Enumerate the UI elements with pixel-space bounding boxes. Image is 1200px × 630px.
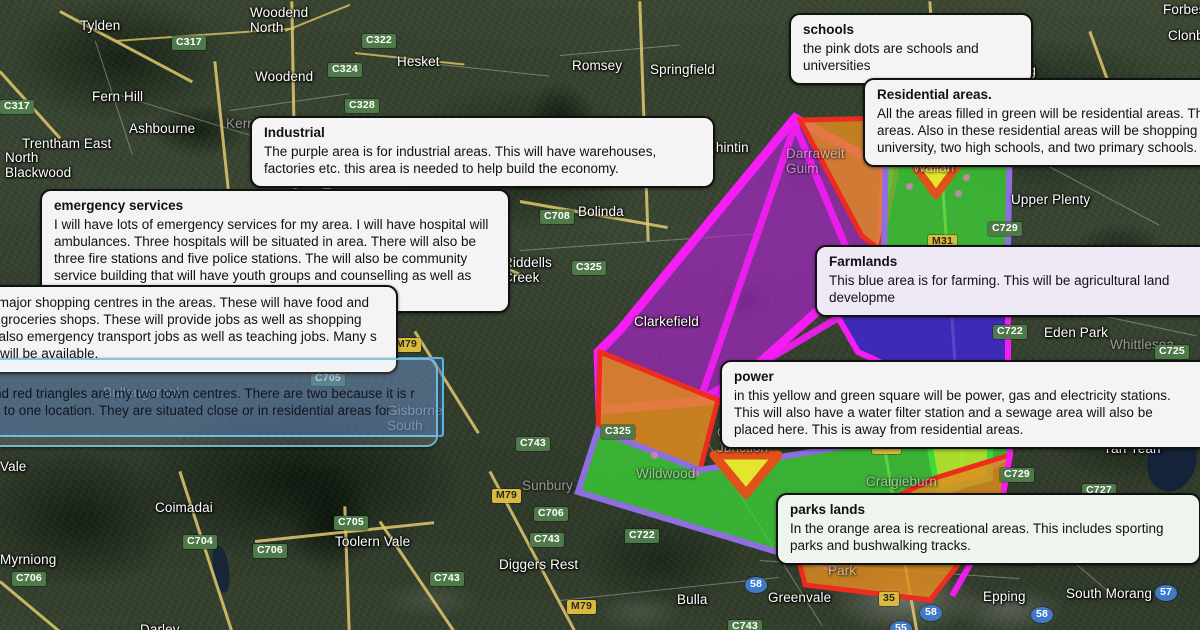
- road-shield: C325: [572, 261, 606, 275]
- road-shield: C729: [988, 222, 1022, 236]
- place-label: Wildwood: [636, 466, 695, 481]
- place-label: Romsey: [572, 58, 622, 73]
- callout-farmlands[interactable]: Farmlands This blue area is for farming.…: [815, 245, 1200, 317]
- map-canvas[interactable]: TyldenWoodend NorthWoodendHesketRomseySp…: [0, 0, 1200, 630]
- place-label: Epping: [983, 589, 1026, 604]
- callout-body: e three major shopping centres in the ar…: [0, 294, 384, 363]
- callout-power[interactable]: power in this yellow and green square wi…: [720, 360, 1200, 449]
- road-shield: 58: [920, 605, 942, 621]
- callout-body: In the orange area is recreational areas…: [790, 520, 1187, 554]
- callout-title: Industrial: [264, 125, 701, 142]
- callout-schools[interactable]: schools the pink dots are schools and un…: [789, 13, 1033, 85]
- road-shield: C743: [530, 533, 564, 547]
- place-label: Ashbourne: [129, 121, 195, 136]
- callout-body: ellow and red triangles are my two town …: [0, 385, 424, 436]
- road-shield: C722: [993, 325, 1027, 339]
- road-shield: C743: [516, 437, 550, 451]
- place-label: Craigieburn: [866, 474, 937, 489]
- callout-body: The purple area is for industrial areas.…: [264, 143, 701, 177]
- place-label: Coimadai: [155, 500, 213, 515]
- place-label: Springfield: [650, 62, 715, 77]
- callout-title: Residential areas.: [877, 87, 1200, 104]
- road-shield: C708: [540, 210, 574, 224]
- place-label: Fern Hill: [92, 89, 143, 104]
- place-label: Clonbinane: [1168, 28, 1200, 43]
- road-shield: 35: [879, 592, 899, 606]
- school-dot: [955, 190, 962, 197]
- callout-town-centres[interactable]: centres ellow and red triangles are my t…: [0, 358, 438, 447]
- place-label: Upper Plenty: [1011, 192, 1090, 207]
- road-shield: 58: [1031, 607, 1053, 623]
- place-label: South Morang: [1066, 586, 1152, 601]
- place-label: Forbes: [1163, 2, 1200, 17]
- road-shield: 58: [745, 577, 767, 593]
- road-shield: C743: [728, 620, 762, 630]
- road-shield: C324: [328, 63, 362, 77]
- callout-title: schools: [803, 22, 1019, 39]
- callout-body: in this yellow and green square will be …: [734, 387, 1196, 438]
- callout-title: parks lands: [790, 502, 1187, 519]
- road-shield: C722: [625, 529, 659, 543]
- callout-title: centres: [0, 367, 424, 384]
- road-shield: C706: [12, 572, 46, 586]
- place-label: Darley: [140, 622, 180, 630]
- road-shield: C322: [362, 34, 396, 48]
- place-label: Myrniong: [0, 552, 56, 567]
- callout-residential-areas[interactable]: Residential areas. All the areas filled …: [863, 78, 1200, 167]
- road-shield: C328: [345, 99, 379, 113]
- road-shield: C706: [253, 544, 287, 558]
- place-label: Clarkefield: [634, 314, 699, 329]
- place-label: Toolern Vale: [335, 534, 410, 549]
- place-label: Tylden: [80, 18, 120, 33]
- place-label: Bulla: [677, 592, 708, 607]
- road-shield: C705: [334, 516, 368, 530]
- callout-title: emergency services: [54, 198, 496, 215]
- road-shield: C743: [430, 572, 464, 586]
- callout-title: power: [734, 369, 1196, 386]
- place-label: Trentham East: [22, 136, 111, 151]
- callout-industrial[interactable]: Industrial The purple area is for indust…: [250, 116, 715, 188]
- road-shield: 55: [890, 621, 912, 630]
- road-shield: C725: [1155, 345, 1189, 359]
- road-shield: C325: [601, 425, 635, 439]
- place-label: Diggers Rest: [499, 557, 578, 572]
- place-label: Woodend North: [250, 5, 308, 35]
- place-label: Riddells Creek: [503, 255, 552, 285]
- school-dot: [906, 183, 913, 190]
- place-label: Greenvale: [768, 590, 831, 605]
- road-shield: M79: [492, 489, 521, 503]
- place-label: Eden Park: [1044, 325, 1108, 340]
- place-label: Darraweit Guim: [786, 146, 845, 176]
- place-label: Vale: [0, 459, 26, 474]
- place-label: Hesket: [397, 54, 440, 69]
- road-shield: C729: [1000, 468, 1034, 482]
- callout-body: the pink dots are schools and universiti…: [803, 40, 1019, 74]
- road-shield: C317: [172, 36, 206, 50]
- road-shield: M79: [567, 600, 596, 614]
- callout-body: This blue area is for farming. This will…: [829, 272, 1200, 306]
- callout-body: All the areas filled in green will be re…: [877, 105, 1200, 156]
- place-label: Sunbury: [522, 478, 573, 493]
- road-shield: C706: [534, 507, 568, 521]
- school-dot: [651, 452, 658, 459]
- road-shield: C317: [0, 100, 34, 114]
- school-dot: [963, 174, 970, 181]
- road-shield: C704: [183, 535, 217, 549]
- place-label: Bolinda: [578, 204, 624, 219]
- road-shield: 57: [1155, 585, 1177, 601]
- callout-parks-lands[interactable]: parks lands In the orange area is recrea…: [776, 493, 1200, 565]
- place-label: North Blackwood: [5, 150, 71, 180]
- callout-title: Farmlands: [829, 254, 1200, 271]
- place-label: Woodend: [255, 69, 313, 84]
